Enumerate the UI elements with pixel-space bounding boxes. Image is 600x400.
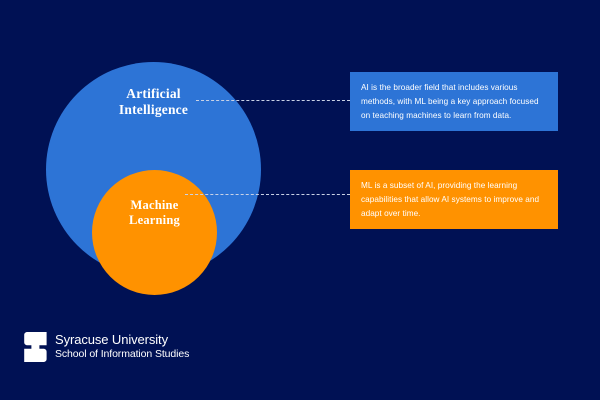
artificial-intelligence-label: Artificial Intelligence <box>46 86 261 119</box>
syracuse-block-s-icon <box>24 332 48 362</box>
logo-text-block: Syracuse University School of Informatio… <box>55 333 189 360</box>
machine-learning-circle[interactable]: Machine Learning <box>92 170 217 295</box>
connector-line-ml <box>185 194 350 195</box>
logo-subtitle: School of Information Studies <box>55 348 189 361</box>
diagram-canvas: Artificial Intelligence Machine Learning… <box>0 0 600 400</box>
logo-title: Syracuse University <box>55 333 189 348</box>
syracuse-university-logo: Syracuse University School of Informatio… <box>24 332 189 362</box>
callout-ai-text: AI is the broader field that includes va… <box>361 83 539 120</box>
callout-box-ml: ML is a subset of AI, providing the lear… <box>350 170 558 229</box>
callout-ml-text: ML is a subset of AI, providing the lear… <box>361 181 539 218</box>
ai-label-line2: Intelligence <box>46 102 261 118</box>
ml-label-line1: Machine <box>92 198 217 213</box>
machine-learning-label: Machine Learning <box>92 198 217 229</box>
callout-box-ai: AI is the broader field that includes va… <box>350 72 558 131</box>
connector-line-ai <box>196 100 350 101</box>
ml-label-line2: Learning <box>92 213 217 228</box>
